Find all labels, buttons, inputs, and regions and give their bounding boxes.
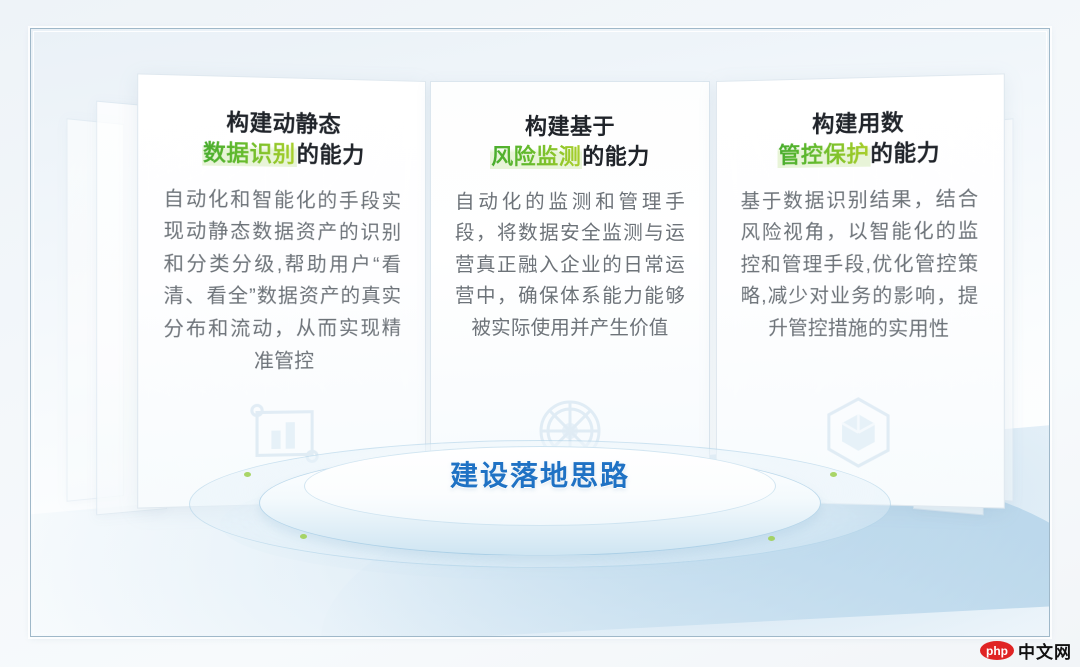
slide-canvas: 构建动静态 数据识别的能力 自动化和智能化的手段实现动静态数据资产的识别和分类分… [0,0,1080,667]
card-1-title-suffix: 的能力 [297,142,365,168]
card-3-title-highlight: 管控保护 [778,142,869,169]
card-2-title-line1: 构建基于 [525,114,615,139]
card-2-title-suffix: 的能力 [582,144,650,169]
pedestal-spark [768,536,775,541]
card-2-title: 构建基于 风险监测的能力 [455,112,685,173]
bar-chart-icon [138,398,425,474]
capability-card-1[interactable]: 构建动静态 数据识别的能力 自动化和智能化的手段实现动静态数据资产的识别和分类分… [137,73,426,508]
site-watermark: php 中文网 [980,638,1072,663]
radar-target-icon [431,394,709,468]
capability-card-3[interactable]: 构建用数 管控保护的能力 基于数据识别结果，结合风险视角，以智能化的监控和管理手… [716,73,1005,508]
slide-frame: 构建动静态 数据识别的能力 自动化和智能化的手段实现动静态数据资产的识别和分类分… [30,28,1050,637]
card-3-title: 构建用数 管控保护的能力 [741,106,979,172]
card-3-title-line2: 管控保护的能力 [741,137,979,172]
hex-shield-icon [717,392,1004,474]
card-1-title-highlight: 数据识别 [203,140,296,167]
card-1-title-line1: 构建动静态 [226,110,341,138]
card-1-body: 自动化和智能化的手段实现动静态数据资产的识别和分类分级,帮助用户“看清、看全”数… [164,183,402,379]
watermark-text: 中文网 [1018,638,1072,663]
card-3-body: 基于数据识别结果，结合风险视角，以智能化的监控和管理手段,优化管控策略,减少对业… [741,183,979,346]
php-logo-icon: php [980,641,1014,660]
pedestal-spark [300,534,307,539]
card-3-title-line1: 构建用数 [812,110,904,137]
card-1-title: 构建动静态 数据识别的能力 [164,106,402,172]
card-3-title-suffix: 的能力 [870,140,940,167]
card-2-title-highlight: 风险监测 [491,144,581,169]
card-2-title-line2: 风险监测的能力 [455,142,685,172]
card-1-title-line2: 数据识别的能力 [164,137,402,172]
capability-card-2[interactable]: 构建基于 风险监测的能力 自动化的监测和管理手段，将数据安全监测与运营真正融入企… [430,81,710,501]
card-2-body: 自动化的监测和管理手段，将数据安全监测与运营真正融入企业的日常运营中，确保体系能… [455,187,685,345]
